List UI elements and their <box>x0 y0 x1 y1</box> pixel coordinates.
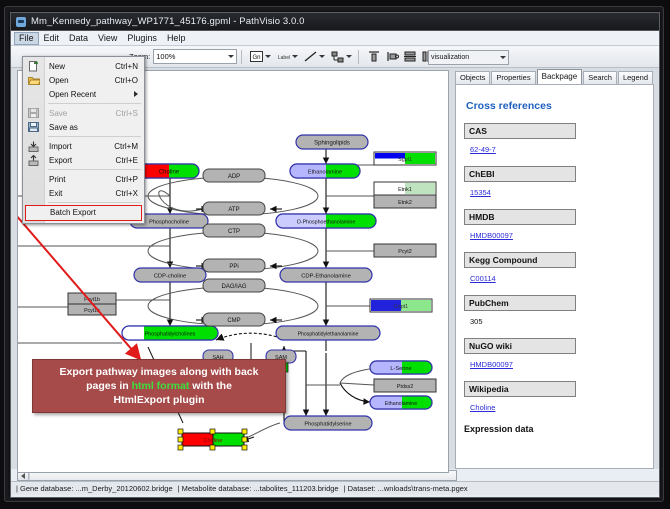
tab-objects[interactable]: Objects <box>455 71 490 84</box>
zoom-value: 100% <box>156 52 175 61</box>
svg-text:Label: Label <box>278 55 290 61</box>
chevron-right-icon <box>134 91 138 97</box>
menu-data[interactable]: Data <box>64 32 93 45</box>
svg-text:Ethanolamine: Ethanolamine <box>385 401 417 407</box>
menu-item-open-recent-label: Open Recent <box>49 90 96 99</box>
xref-link-chebi[interactable]: 15354 <box>470 188 491 197</box>
visualization-combobox[interactable]: visualization <box>428 50 509 65</box>
xref-source-pubchem: PubChem <box>464 295 576 311</box>
menu-view[interactable]: View <box>93 32 122 45</box>
menu-item-new[interactable]: New Ctrl+N <box>23 59 144 73</box>
menu-item-save[interactable]: Save Ctrl+S <box>23 106 144 120</box>
svg-text:ATP: ATP <box>228 207 239 213</box>
xref-row-kegg: Kegg Compound C00114 <box>464 252 645 286</box>
align-top-tool-icon[interactable] <box>366 49 381 64</box>
svg-text:Pcyt1b: Pcyt1b <box>84 297 100 303</box>
line-tool-icon[interactable] <box>303 49 318 64</box>
visualization-value: visualization <box>431 54 469 61</box>
annotation-line-1: Export pathway images along with back <box>60 366 259 378</box>
xref-row-nugo: NuGO wiki HMDB00097 <box>464 338 645 372</box>
menu-item-batch-export[interactable]: Batch Export <box>25 205 142 221</box>
side-panel-tabs: Objects Properties Backpage Search Legen… <box>455 70 654 84</box>
svg-text:CDP-Ethanolamine: CDP-Ethanolamine <box>301 274 351 280</box>
svg-text:L-Serine: L-Serine <box>390 366 411 372</box>
interaction-tool-icon[interactable] <box>330 49 345 64</box>
chevron-down-icon[interactable] <box>292 55 298 58</box>
window-title: Mm_Kennedy_pathway_WP1771_45176.gpml - P… <box>31 16 305 27</box>
xref-link-kegg[interactable]: C00114 <box>470 274 496 283</box>
xref-link-nugo[interactable]: HMDB00097 <box>470 360 513 369</box>
annotation-callout: Export pathway images along with back pa… <box>32 359 286 413</box>
new-file-icon <box>27 60 40 72</box>
xref-link-cas[interactable]: 62-49-7 <box>470 145 496 154</box>
xref-source-kegg: Kegg Compound <box>464 252 576 268</box>
side-panel: Objects Properties Backpage Search Legen… <box>455 70 654 469</box>
menu-item-exit-label: Exit <box>49 189 62 198</box>
svg-text:Phosphocholine: Phosphocholine <box>149 220 189 226</box>
tab-backpage[interactable]: Backpage <box>537 69 583 84</box>
menu-item-import[interactable]: Import Ctrl+M <box>23 139 144 153</box>
menu-item-open[interactable]: Open Ctrl+O <box>23 73 144 87</box>
svg-text:Gn: Gn <box>253 55 261 61</box>
status-dataset: | Dataset: ...wnloads\trans-meta.pgex <box>344 484 468 493</box>
svg-text:Ethanolamine: Ethanolamine <box>308 170 342 176</box>
xref-value-pubchem: 305 <box>470 317 483 326</box>
xref-row-cas: CAS 62-49-7 <box>464 123 645 157</box>
menu-item-print-accel: Ctrl+P <box>116 175 138 184</box>
menu-separator <box>48 169 141 170</box>
xref-source-chebi: ChEBI <box>464 166 576 182</box>
xref-link-hmdb[interactable]: HMDB00097 <box>470 231 513 240</box>
svg-text:Pcyt2: Pcyt2 <box>398 249 411 255</box>
svg-text:Choline: Choline <box>204 438 223 444</box>
toolbar-separator <box>241 50 242 64</box>
xref-source-nugo: NuGO wiki <box>464 338 576 354</box>
menu-item-open-recent[interactable]: Open Recent <box>23 87 144 101</box>
svg-text:Phosphatidylethanolamine: Phosphatidylethanolamine <box>298 332 359 338</box>
distribute-vertical-tool-icon[interactable] <box>402 49 417 64</box>
save-disk-icon <box>27 107 40 119</box>
save-as-icon <box>27 121 40 133</box>
backpage-panel: Cross references CAS 62-49-7 ChEBI 15354… <box>455 84 654 469</box>
menu-item-exit[interactable]: Exit Ctrl+X <box>23 186 144 200</box>
svg-text:Choline: Choline <box>159 170 180 176</box>
menu-item-save-as-label: Save as <box>49 123 78 132</box>
menu-item-batch-export-label: Batch Export <box>26 206 141 220</box>
label-tool-icon[interactable]: Label <box>276 49 291 64</box>
svg-text:PPi: PPi <box>229 264 238 270</box>
menu-edit[interactable]: Edit <box>39 32 65 45</box>
xref-row-chebi: ChEBI 15354 <box>464 166 645 200</box>
chevron-down-icon <box>500 56 506 59</box>
menu-separator <box>48 136 141 137</box>
svg-text:Ptdss2: Ptdss2 <box>397 384 413 390</box>
menu-item-open-label: Open <box>49 76 69 85</box>
menu-help[interactable]: Help <box>162 32 191 45</box>
zoom-combobox[interactable]: 100% <box>153 49 237 64</box>
menu-item-save-as[interactable]: Save as <box>23 120 144 134</box>
menu-file[interactable]: File <box>14 32 39 45</box>
gene-product-tool-icon[interactable]: Gn <box>249 49 264 64</box>
annotation-highlight: html format <box>132 380 190 392</box>
chevron-down-icon <box>228 55 234 58</box>
svg-text:Sphingolipids: Sphingolipids <box>314 141 350 147</box>
menu-item-save-accel: Ctrl+S <box>116 109 138 118</box>
svg-text:CMP: CMP <box>227 318 240 324</box>
annotation-line-3: HtmlExport plugin <box>114 394 205 406</box>
import-icon <box>27 140 40 152</box>
svg-text:Etnk2: Etnk2 <box>398 200 412 206</box>
annotation-line-2c: with the <box>189 380 232 392</box>
xref-row-pubchem: PubChem 305 <box>464 295 645 329</box>
export-icon <box>27 154 40 166</box>
menu-item-new-label: New <box>49 62 65 71</box>
svg-text:O-Phosphoethanolamine: O-Phosphoethanolamine <box>297 220 356 226</box>
svg-text:Cept1: Cept1 <box>394 304 408 310</box>
menu-item-export-label: Export <box>49 156 72 165</box>
svg-text:CDP-choline: CDP-choline <box>154 274 187 280</box>
menu-separator <box>48 103 141 104</box>
menu-item-new-accel: Ctrl+N <box>115 62 138 71</box>
xref-link-wikipedia[interactable]: Choline <box>470 403 495 412</box>
menu-item-save-label: Save <box>49 109 67 118</box>
status-gene-database: | Gene database: ...m_Derby_20120602.bri… <box>16 484 173 493</box>
status-metabolite-database: | Metabolite database: ...tabolites_1112… <box>178 484 339 493</box>
menu-bar: File Edit Data View Plugins Help <box>11 31 659 46</box>
menu-plugins[interactable]: Plugins <box>122 32 162 45</box>
menu-item-print-label: Print <box>49 175 65 184</box>
svg-text:Sgpl1: Sgpl1 <box>398 157 412 163</box>
svg-text:DAG/IAG: DAG/IAG <box>221 284 246 290</box>
open-folder-icon <box>27 74 40 86</box>
pathvisio-icon <box>16 17 26 27</box>
xref-source-hmdb: HMDB <box>464 209 576 225</box>
annotation-line-2a: pages in <box>86 380 132 392</box>
menu-item-export[interactable]: Export Ctrl+E <box>23 153 144 167</box>
title-bar: Mm_Kennedy_pathway_WP1771_45176.gpml - P… <box>11 13 659 31</box>
menu-item-print[interactable]: Print Ctrl+P <box>23 172 144 186</box>
svg-text:ADP: ADP <box>228 174 240 180</box>
svg-text:Phosphatidylserine: Phosphatidylserine <box>304 422 351 428</box>
menu-item-export-accel: Ctrl+E <box>116 156 138 165</box>
screenshot-root: Mm_Kennedy_pathway_WP1771_45176.gpml - P… <box>0 0 670 509</box>
menu-separator <box>48 202 141 203</box>
file-dropdown-menu[interactable]: New Ctrl+N Open Ctrl+O Open Recent Save … <box>22 56 145 224</box>
svg-text:Phosphatidylcholines: Phosphatidylcholines <box>145 332 196 338</box>
cross-references-title: Cross references <box>466 100 645 112</box>
svg-text:Pcyt1a: Pcyt1a <box>84 308 100 314</box>
toolbar-separator <box>358 50 359 64</box>
xref-row-hmdb: HMDB HMDB00097 <box>464 209 645 243</box>
tab-properties[interactable]: Properties <box>491 71 535 84</box>
chevron-down-icon[interactable] <box>319 55 325 58</box>
status-bar: | Gene database: ...m_Derby_20120602.bri… <box>11 481 659 495</box>
menu-item-import-accel: Ctrl+M <box>114 142 138 151</box>
menu-item-open-accel: Ctrl+O <box>115 76 138 85</box>
align-left-tool-icon[interactable] <box>384 49 399 64</box>
menu-item-exit-accel: Ctrl+X <box>116 189 138 198</box>
xref-source-wikipedia: Wikipedia <box>464 381 576 397</box>
tab-legend[interactable]: Legend <box>618 71 653 84</box>
xref-source-cas: CAS <box>464 123 576 139</box>
svg-text:CTP: CTP <box>228 229 240 235</box>
xref-row-wikipedia: Wikipedia Choline <box>464 381 645 415</box>
pathvisio-window: Mm_Kennedy_pathway_WP1771_45176.gpml - P… <box>10 12 660 498</box>
tab-search[interactable]: Search <box>583 71 617 84</box>
annotation-text: Export pathway images along with back pa… <box>52 365 267 407</box>
menu-item-import-label: Import <box>49 142 72 151</box>
svg-text:Etnk1: Etnk1 <box>398 187 412 193</box>
expression-data-title: Expression data <box>464 424 645 434</box>
chevron-down-icon[interactable] <box>346 55 352 58</box>
chevron-down-icon[interactable] <box>265 55 271 58</box>
